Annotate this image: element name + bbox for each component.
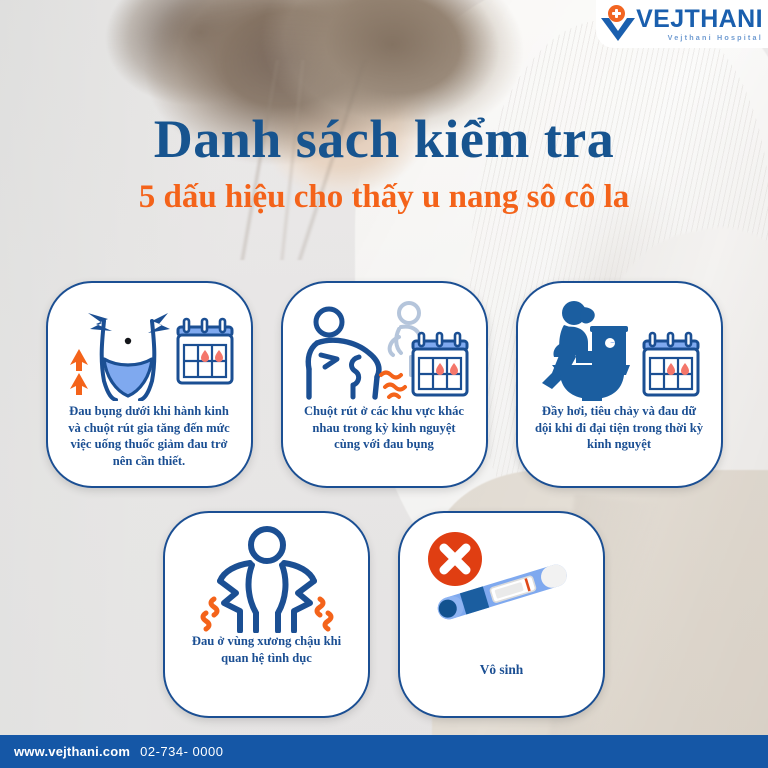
logo-v-mark [601, 9, 635, 41]
icon-svg-pelvic [192, 525, 342, 633]
page-title: Danh sách kiểm tra [0, 112, 768, 166]
icon-svg-toilet [530, 297, 708, 401]
cards-row-bottom: Đau ở vùng xương chậu khi quan hệ tình d… [0, 511, 768, 718]
logo-wordmark: VEJTHANI [636, 7, 763, 32]
card-body-cramps[interactable]: Chuột rút ở các khu vực khác nhau trong … [281, 281, 488, 488]
logo-tagline: Vejthani Hospital [636, 34, 763, 41]
infographic-poster: VEJTHANI Vejthani Hospital Danh sách kiể… [0, 0, 768, 768]
female-abdomen-pain-calendar-icon [58, 295, 241, 403]
page-subtitle: 5 dấu hiệu cho thấy u nang sô cô la [0, 181, 768, 214]
person-back-pain-calendar-icon [293, 295, 476, 403]
card-label: Đau ở vùng xương chậu khi quan hệ tình d… [175, 633, 358, 666]
footer-website[interactable]: www.vejthani.com [14, 744, 130, 759]
vejthani-logo: VEJTHANI Vejthani Hospital [596, 0, 768, 48]
cards-row-top: Đau bụng dưới khi hành kinh và chuột rút… [0, 281, 768, 488]
card-label: Đau bụng dưới khi hành kinh và chuột rút… [58, 403, 241, 470]
icon-svg-pregnancy-test [421, 525, 583, 633]
card-bloating-diarrhea[interactable]: Đầy hơi, tiêu chảy và đau dữ dội khi đi … [516, 281, 723, 488]
calendar-icon-1 [178, 319, 232, 383]
card-pelvic-pain[interactable]: Đau ở vùng xương chậu khi quan hệ tình d… [163, 511, 370, 718]
icon-svg-abdomen [60, 297, 238, 401]
footer-phone[interactable]: 02-734- 0000 [140, 744, 223, 759]
negative-pregnancy-test-icon [410, 525, 593, 633]
icon-svg-backpain [295, 297, 473, 401]
calendar-icon-2 [413, 333, 467, 395]
person-pelvic-pain-icon [175, 525, 358, 633]
card-label: Chuột rút ở các khu vực khác nhau trong … [293, 403, 476, 453]
card-label: Vô sinh [474, 633, 530, 679]
card-menstrual-cramps[interactable]: Đau bụng dưới khi hành kinh và chuột rút… [46, 281, 253, 488]
card-label: Đầy hơi, tiêu chảy và đau dữ dội khi đi … [528, 403, 711, 453]
footer-bar: www.vejthani.com 02-734- 0000 [0, 735, 768, 768]
calendar-icon-3 [644, 333, 698, 395]
woman-on-toilet-calendar-icon [528, 295, 711, 403]
card-infertility[interactable]: Vô sinh [398, 511, 605, 718]
